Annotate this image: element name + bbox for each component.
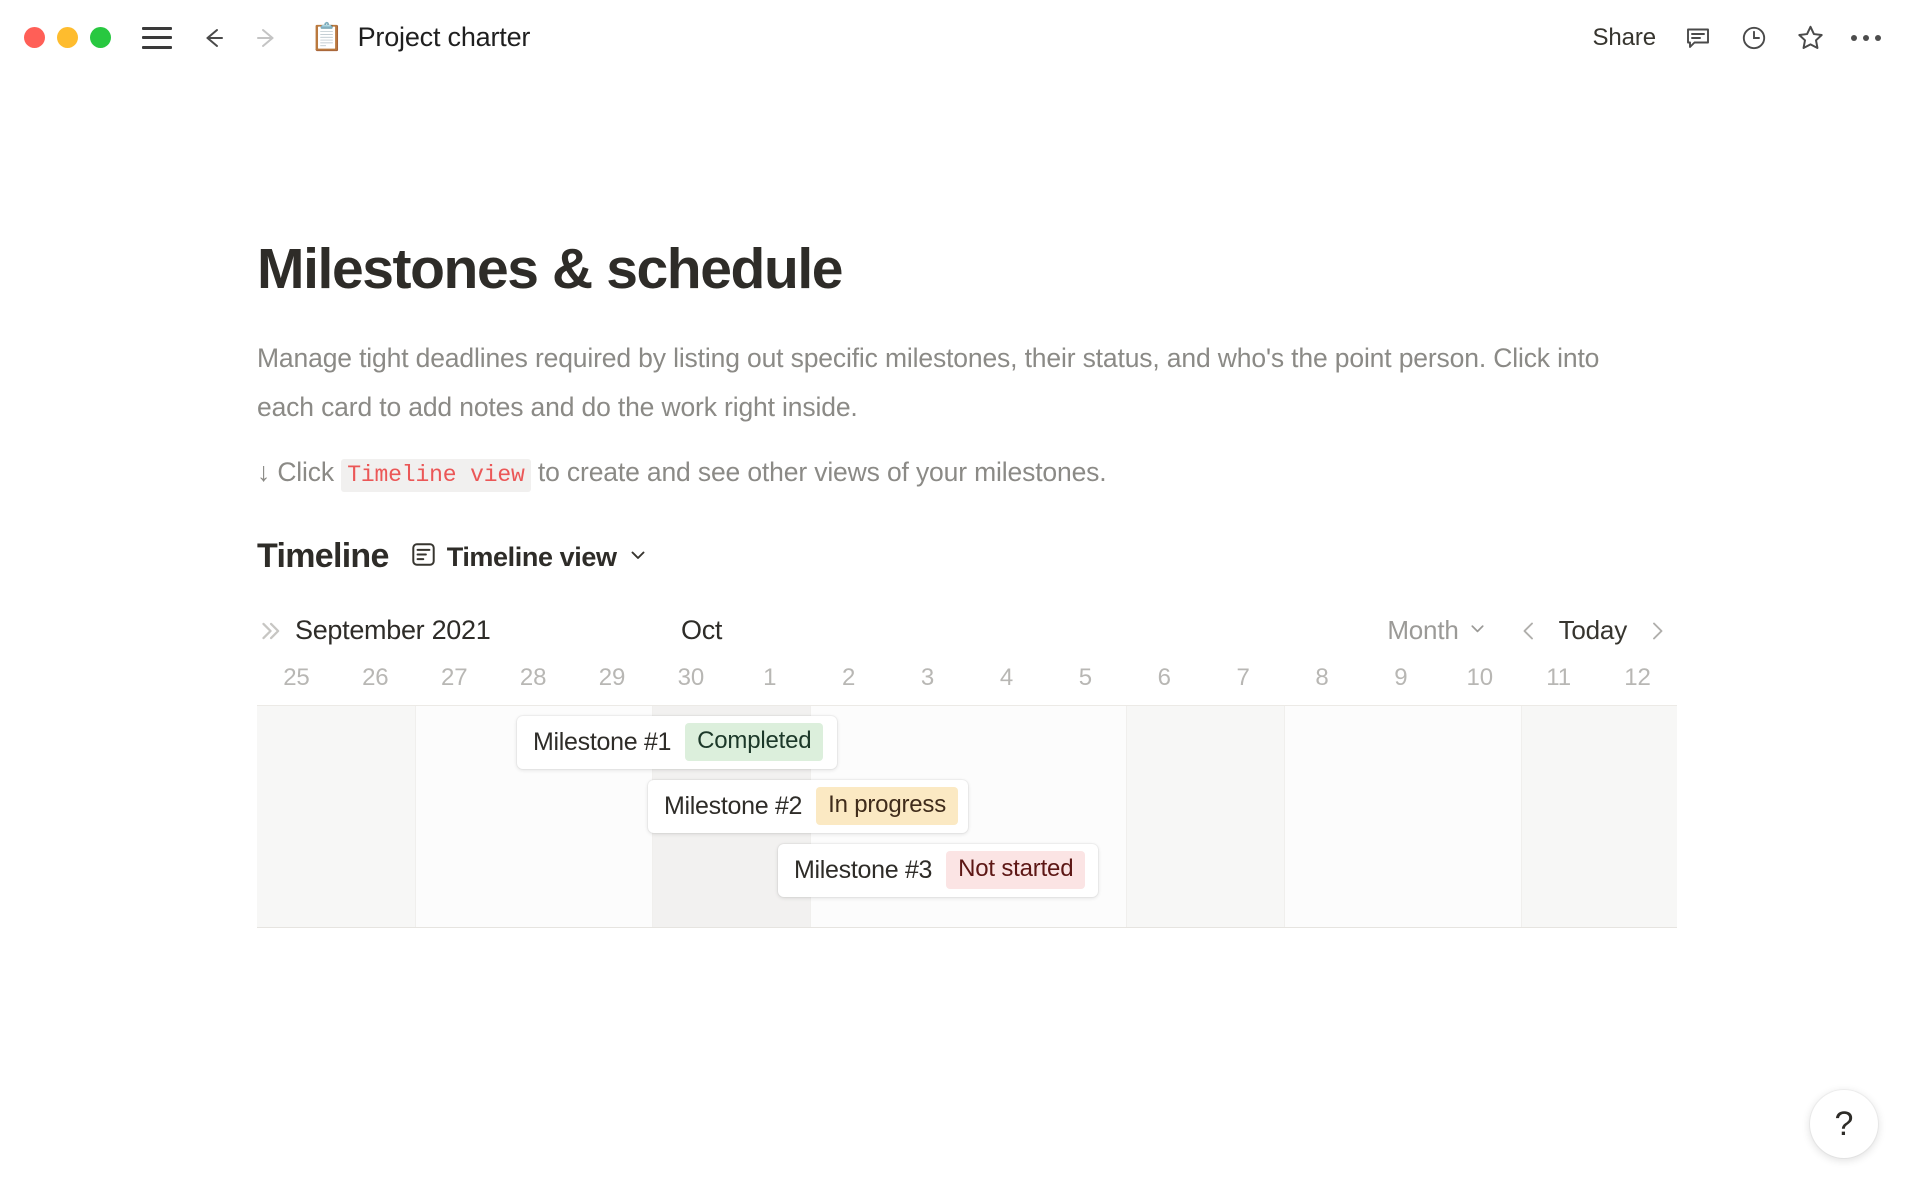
timeline-day-5: 5 bbox=[1046, 664, 1125, 692]
clock-icon[interactable] bbox=[1726, 10, 1782, 66]
timeline-day-header: 252627282930123456789101112 bbox=[257, 660, 1677, 706]
timeline-day-4: 4 bbox=[967, 664, 1046, 692]
timeline-grid[interactable]: New Milestone #1CompletedMilestone #2In … bbox=[257, 706, 1677, 928]
status-badge: Not started bbox=[946, 851, 1085, 889]
timeline-day-2: 2 bbox=[809, 664, 888, 692]
timeline-card[interactable]: Milestone #1Completed bbox=[517, 716, 837, 769]
timeline-weekend-band bbox=[1126, 706, 1284, 927]
timeline-gridline bbox=[415, 706, 416, 927]
maximize-window-button[interactable] bbox=[90, 27, 111, 48]
chevron-down-icon bbox=[1468, 619, 1487, 643]
timeline-card-name: Milestone #1 bbox=[533, 728, 671, 757]
timeline-day-12: 12 bbox=[1598, 664, 1677, 692]
page-hint: ↓ Click Timeline view to create and see … bbox=[257, 452, 1677, 495]
timeline-today-button[interactable]: Today bbox=[1549, 615, 1637, 646]
timeline-view-icon bbox=[411, 542, 436, 572]
database-title: Timeline bbox=[257, 537, 389, 576]
timeline-weekend-band bbox=[257, 706, 415, 927]
timeline-card-name: Milestone #3 bbox=[794, 856, 932, 885]
chevrons-right-icon[interactable] bbox=[257, 618, 283, 644]
timeline-day-11: 11 bbox=[1519, 664, 1598, 692]
timeline-controls: Month Today bbox=[1387, 611, 1677, 651]
minimize-window-button[interactable] bbox=[57, 27, 78, 48]
chevron-down-icon bbox=[628, 545, 648, 570]
status-badge: In progress bbox=[816, 787, 958, 825]
timeline-day-8: 8 bbox=[1283, 664, 1362, 692]
timeline-month-label-secondary: Oct bbox=[681, 615, 722, 646]
timeline-weekend-band bbox=[1521, 706, 1677, 927]
timeline-card[interactable]: Milestone #3Not started bbox=[778, 844, 1098, 897]
timeline-gridline bbox=[1126, 706, 1127, 927]
chevron-left-icon[interactable] bbox=[1509, 611, 1549, 651]
timeline-day-3: 3 bbox=[888, 664, 967, 692]
timeline-gridline bbox=[1284, 706, 1285, 927]
help-button[interactable]: ? bbox=[1810, 1090, 1878, 1158]
window-controls bbox=[24, 27, 111, 48]
timeline-day-25: 25 bbox=[257, 664, 336, 692]
timeline-day-27: 27 bbox=[415, 664, 494, 692]
page-content: Milestones & schedule Manage tight deadl… bbox=[257, 0, 1677, 928]
timeline-day-9: 9 bbox=[1361, 664, 1440, 692]
page-hint-prefix: ↓ Click bbox=[257, 457, 334, 487]
timeline-day-30: 30 bbox=[651, 664, 730, 692]
timeline-day-6: 6 bbox=[1125, 664, 1204, 692]
hamburger-menu-icon[interactable] bbox=[142, 27, 172, 49]
timeline-day-7: 7 bbox=[1204, 664, 1283, 692]
close-window-button[interactable] bbox=[24, 27, 45, 48]
view-header: Timeline Timeline view bbox=[257, 537, 1677, 576]
inline-code-timeline-view: Timeline view bbox=[341, 459, 530, 492]
tab-timeline-view[interactable]: Timeline view bbox=[411, 542, 648, 576]
page-title: Milestones & schedule bbox=[257, 238, 1677, 301]
timeline-gridline bbox=[1521, 706, 1522, 927]
timeline-header-bar: September 2021 Oct Month Today bbox=[257, 602, 1677, 660]
timeline-view: September 2021 Oct Month Today 2526 bbox=[257, 602, 1677, 928]
timeline-scale-label: Month bbox=[1387, 615, 1458, 646]
star-icon[interactable] bbox=[1782, 10, 1838, 66]
timeline-day-26: 26 bbox=[336, 664, 415, 692]
page-hint-suffix: to create and see other views of your mi… bbox=[538, 457, 1107, 487]
timeline-scale-selector[interactable]: Month bbox=[1387, 615, 1508, 646]
timeline-card-name: Milestone #2 bbox=[664, 792, 802, 821]
more-horizontal-icon[interactable] bbox=[1838, 10, 1894, 66]
timeline-day-29: 29 bbox=[573, 664, 652, 692]
timeline-day-28: 28 bbox=[494, 664, 573, 692]
comment-icon[interactable] bbox=[1670, 10, 1726, 66]
page-description: Manage tight deadlines required by listi… bbox=[257, 334, 1632, 432]
timeline-day-10: 10 bbox=[1440, 664, 1519, 692]
chevron-right-icon[interactable] bbox=[1637, 611, 1677, 651]
timeline-card[interactable]: Milestone #2In progress bbox=[648, 780, 968, 833]
arrow-left-icon[interactable] bbox=[198, 23, 228, 53]
tab-timeline-view-label: Timeline view bbox=[447, 542, 617, 573]
timeline-month-label: September 2021 bbox=[295, 615, 490, 646]
status-badge: Completed bbox=[685, 723, 823, 761]
timeline-day-1: 1 bbox=[730, 664, 809, 692]
